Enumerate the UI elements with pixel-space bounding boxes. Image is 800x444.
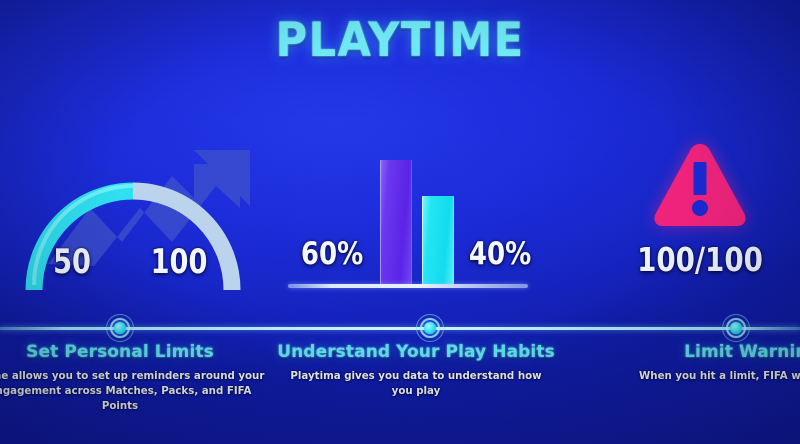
- bar-label-right: 40%: [465, 236, 536, 272]
- node-core: [424, 322, 436, 334]
- node-core: [114, 322, 126, 334]
- caption-understand-your-play-habits: Understand Your Play Habits Playtima giv…: [272, 342, 560, 398]
- gauge-value-right: 100: [145, 242, 214, 282]
- caption-body: When you hit a limit, FIFA will let you …: [631, 368, 800, 383]
- section-set-personal-limits: 50 100: [0, 130, 272, 310]
- gauge-graphic: 50 100: [8, 146, 258, 306]
- warning-graphic: 100/100: [600, 138, 800, 310]
- bar-label-left: 60%: [297, 236, 368, 272]
- caption-set-personal-limits: Set Personal Limits ytime allows you to …: [0, 342, 282, 413]
- caption-body: ytime allows you to set up reminders aro…: [0, 368, 271, 413]
- playtime-infographic: PLAYTIME 50 100 60% 40%: [0, 0, 800, 444]
- timeline-node-set-personal-limits: [106, 314, 134, 342]
- node-core: [730, 322, 742, 334]
- caption-heading: Set Personal Limits: [0, 342, 282, 363]
- gauge-value-left: 50: [48, 242, 96, 282]
- page-title: PLAYTIME: [32, 14, 768, 68]
- section-understand-your-play-habits: 60% 40%: [272, 130, 544, 310]
- bar-chart-graphic: 60% 40%: [282, 144, 534, 306]
- warning-triangle-icon: [652, 140, 748, 228]
- section-limit-warning: 100/100: [600, 130, 800, 310]
- caption-body: Playtima gives you data to understand ho…: [282, 368, 550, 398]
- caption-heading: Understand Your Play Habits: [272, 342, 560, 363]
- caption-heading: Limit Warning: [622, 342, 800, 363]
- gauge-arc: [8, 164, 258, 304]
- timeline-node-understand-your-play-habits: [416, 314, 444, 342]
- bar-40-percent: [422, 196, 454, 284]
- caption-limit-warning: Limit Warning When you hit a limit, FIFA…: [622, 342, 800, 383]
- timeline-node-limit-warning: [722, 314, 750, 342]
- bar-60-percent: [380, 160, 412, 284]
- bar-chart-baseline: [288, 284, 528, 288]
- warning-counter: 100/100: [616, 240, 784, 279]
